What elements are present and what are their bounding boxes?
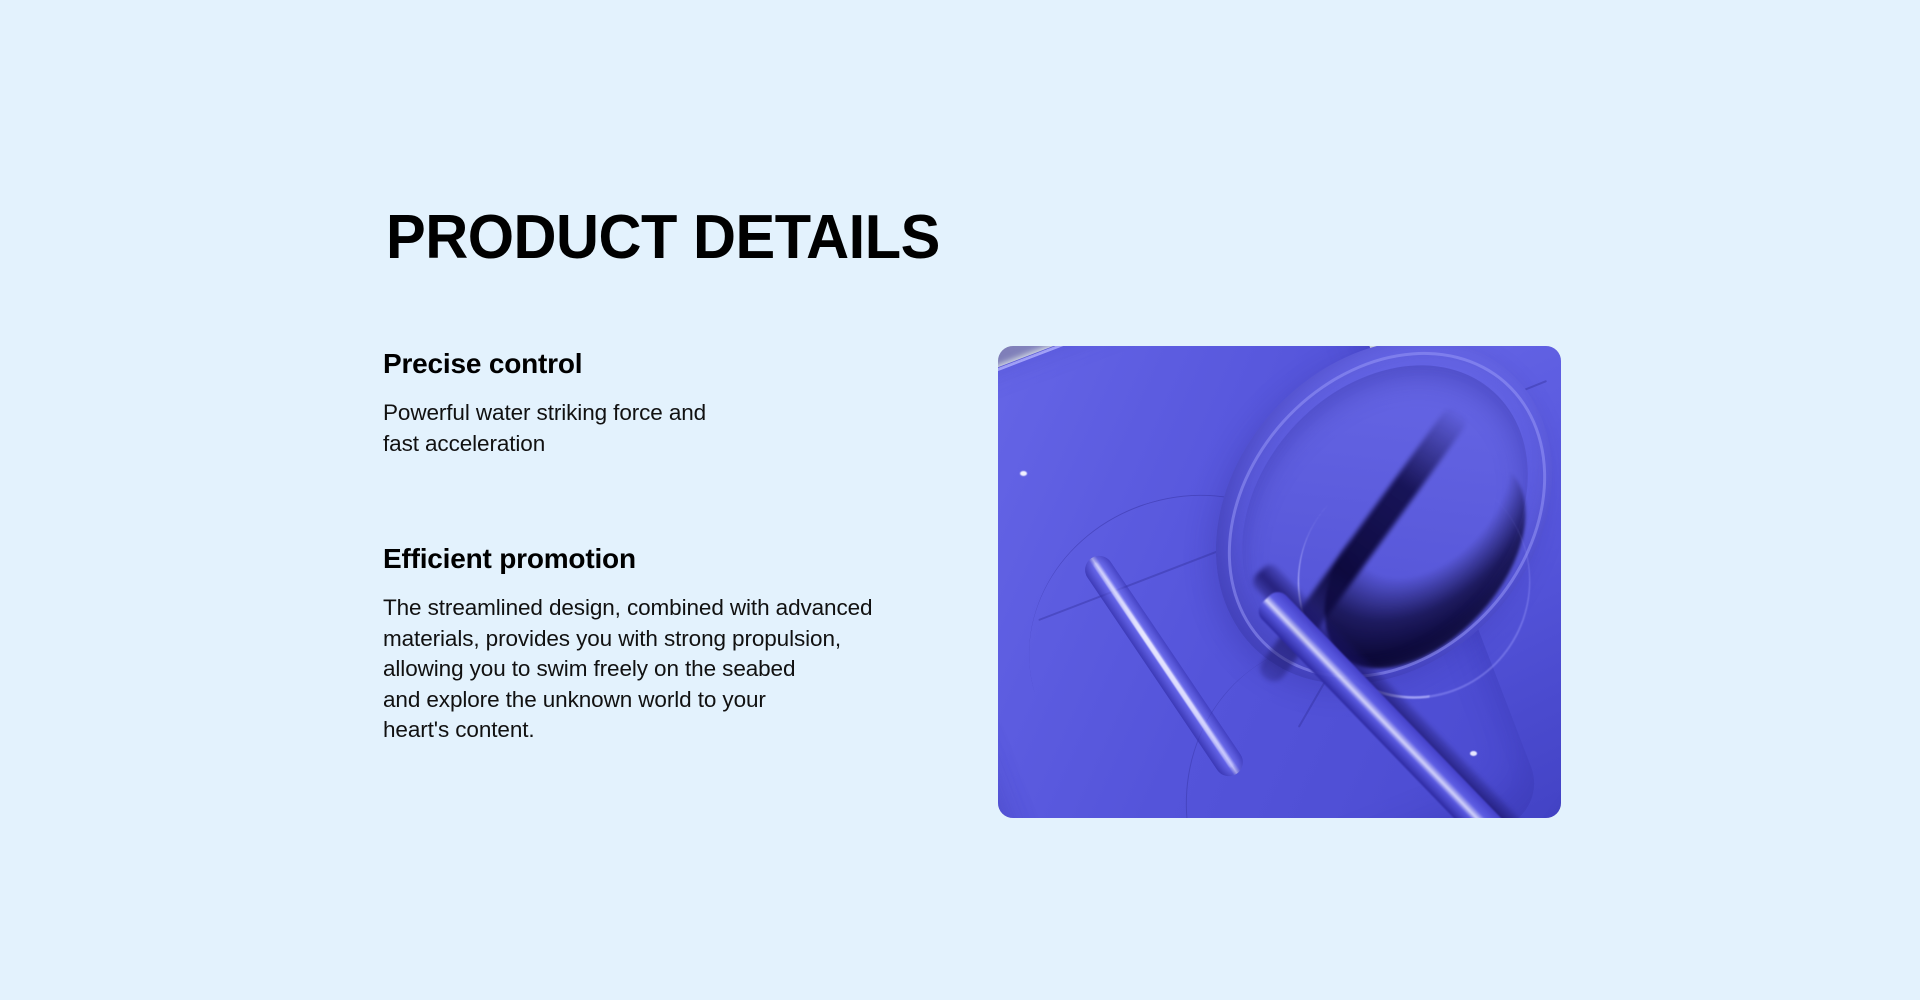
fin-tip-specular bbox=[1020, 471, 1027, 476]
feature-body: The streamlined design, combined with ad… bbox=[383, 593, 983, 746]
swim-fin-illustration bbox=[998, 346, 1561, 818]
fin-tip-specular bbox=[1470, 751, 1477, 756]
feature-block-precise-control: Precise control Powerful water striking … bbox=[383, 348, 983, 459]
product-details-page: PRODUCT DETAILS Precise control Powerful… bbox=[0, 0, 1920, 1000]
feature-block-efficient-promotion: Efficient promotion The streamlined desi… bbox=[383, 543, 983, 746]
feature-body: Powerful water striking force and fast a… bbox=[383, 398, 983, 459]
product-image-card bbox=[998, 346, 1561, 818]
feature-heading: Precise control bbox=[383, 348, 983, 380]
feature-heading: Efficient promotion bbox=[383, 543, 983, 575]
page-title: PRODUCT DETAILS bbox=[386, 205, 940, 270]
feature-list: Precise control Powerful water striking … bbox=[383, 348, 983, 746]
